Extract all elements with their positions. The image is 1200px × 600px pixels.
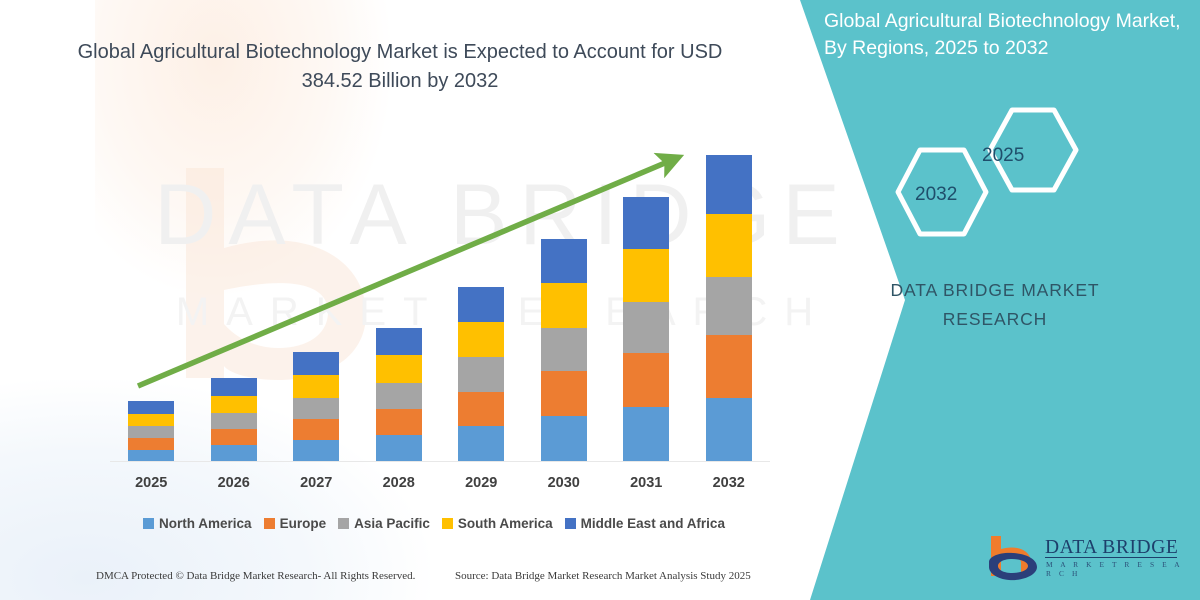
brand-name-line2: RESEARCH <box>810 305 1180 334</box>
bar-segment-south-america[interactable] <box>706 214 752 276</box>
brand-name-line1: DATA BRIDGE MARKET <box>810 276 1180 305</box>
legend-label: Europe <box>280 516 327 531</box>
bar-segment-middle-east-and-africa[interactable] <box>458 287 504 322</box>
logo-name: DATA BRIDGE <box>1045 537 1178 559</box>
footer-source-text: Source: Data Bridge Market Research Mark… <box>455 570 751 582</box>
x-axis-label-2032: 2032 <box>694 475 764 491</box>
bar-segment-asia-pacific[interactable] <box>293 398 339 419</box>
legend-item-europe[interactable]: Europe <box>264 516 327 531</box>
bar-2030[interactable] <box>541 239 587 462</box>
x-axis-label-2031: 2031 <box>611 475 681 491</box>
legend-item-middle-east-and-africa[interactable]: Middle East and Africa <box>565 516 725 531</box>
legend-label: North America <box>159 516 252 531</box>
stacked-bar-plot <box>110 140 770 462</box>
legend-item-north-america[interactable]: North America <box>143 516 252 531</box>
bar-segment-north-america[interactable] <box>293 440 339 462</box>
legend-label: Asia Pacific <box>354 516 430 531</box>
bar-segment-europe[interactable] <box>458 392 504 426</box>
hexagon-2025-label: 2025 <box>982 145 1024 167</box>
bar-segment-middle-east-and-africa[interactable] <box>293 352 339 375</box>
x-axis-label-2030: 2030 <box>529 475 599 491</box>
infographic-canvas: DATA BRIDGE MARKET RESEARCH Global Agric… <box>0 0 1200 600</box>
bar-segment-middle-east-and-africa[interactable] <box>541 239 587 283</box>
logo-tagline: M A R K E T R E S E A R C H <box>1046 560 1195 578</box>
bar-segment-europe[interactable] <box>706 335 752 397</box>
bar-segment-south-america[interactable] <box>623 249 669 302</box>
bar-segment-north-america[interactable] <box>706 398 752 462</box>
bar-segment-north-america[interactable] <box>376 435 422 462</box>
bar-segment-north-america[interactable] <box>458 426 504 462</box>
bar-segment-south-america[interactable] <box>211 396 257 413</box>
bar-segment-asia-pacific[interactable] <box>623 302 669 353</box>
legend-item-south-america[interactable]: South America <box>442 516 553 531</box>
bar-segment-asia-pacific[interactable] <box>458 357 504 391</box>
legend-label: Middle East and Africa <box>581 516 725 531</box>
bar-segment-middle-east-and-africa[interactable] <box>376 328 422 355</box>
bar-segment-south-america[interactable] <box>293 375 339 397</box>
x-axis-label-2027: 2027 <box>281 475 351 491</box>
legend-label: South America <box>458 516 553 531</box>
bar-segment-europe[interactable] <box>623 353 669 406</box>
bar-segment-middle-east-and-africa[interactable] <box>623 197 669 248</box>
bar-segment-south-america[interactable] <box>458 322 504 357</box>
legend-item-asia-pacific[interactable]: Asia Pacific <box>338 516 430 531</box>
bar-segment-europe[interactable] <box>293 419 339 440</box>
x-axis-label-2025: 2025 <box>116 475 186 491</box>
bar-segment-middle-east-and-africa[interactable] <box>706 155 752 214</box>
bar-segment-europe[interactable] <box>211 429 257 445</box>
chart-title: Global Agricultural Biotechnology Market… <box>60 38 740 96</box>
bar-segment-south-america[interactable] <box>128 414 174 426</box>
x-axis-line <box>110 461 770 462</box>
legend-swatch-icon <box>442 518 453 529</box>
bar-2027[interactable] <box>293 352 339 462</box>
brand-panel: Global Agricultural Biotechnology Market… <box>780 0 1200 600</box>
hexagon-2032-label: 2032 <box>915 184 957 206</box>
company-logo[interactable]: DATA BRIDGE M A R K E T R E S E A R C H <box>985 532 1195 588</box>
bar-segment-europe[interactable] <box>128 438 174 450</box>
legend-swatch-icon <box>338 518 349 529</box>
chart-legend: North AmericaEuropeAsia PacificSouth Ame… <box>110 512 770 534</box>
legend-swatch-icon <box>565 518 576 529</box>
bar-segment-north-america[interactable] <box>623 407 669 462</box>
bar-2032[interactable] <box>706 155 752 462</box>
bar-segment-asia-pacific[interactable] <box>376 383 422 409</box>
bar-segment-south-america[interactable] <box>541 283 587 328</box>
bar-segment-asia-pacific[interactable] <box>128 426 174 438</box>
bar-2025[interactable] <box>128 401 174 462</box>
bar-segment-asia-pacific[interactable] <box>541 328 587 371</box>
legend-swatch-icon <box>264 518 275 529</box>
bar-segment-south-america[interactable] <box>376 355 422 382</box>
bar-segment-north-america[interactable] <box>211 445 257 462</box>
bar-2031[interactable] <box>623 197 669 462</box>
bar-segment-asia-pacific[interactable] <box>706 277 752 335</box>
brand-name: DATA BRIDGE MARKET RESEARCH <box>810 276 1180 334</box>
bar-segment-north-america[interactable] <box>541 416 587 462</box>
bar-segment-middle-east-and-africa[interactable] <box>128 401 174 414</box>
bar-2028[interactable] <box>376 328 422 462</box>
footer-dmca-text: DMCA Protected © Data Bridge Market Rese… <box>96 570 415 582</box>
bar-segment-europe[interactable] <box>541 371 587 415</box>
x-axis-labels: 20252026202720282029203020312032 <box>110 472 770 498</box>
logo-divider <box>1045 557 1177 558</box>
x-axis-label-2026: 2026 <box>199 475 269 491</box>
x-axis-label-2028: 2028 <box>364 475 434 491</box>
bar-segment-asia-pacific[interactable] <box>211 413 257 429</box>
x-axis-label-2029: 2029 <box>446 475 516 491</box>
bar-segment-middle-east-and-africa[interactable] <box>211 378 257 395</box>
legend-swatch-icon <box>143 518 154 529</box>
bar-segment-europe[interactable] <box>376 409 422 435</box>
bar-2026[interactable] <box>211 378 257 462</box>
bar-2029[interactable] <box>458 287 504 462</box>
chart-area: Global Agricultural Biotechnology Market… <box>0 0 800 600</box>
